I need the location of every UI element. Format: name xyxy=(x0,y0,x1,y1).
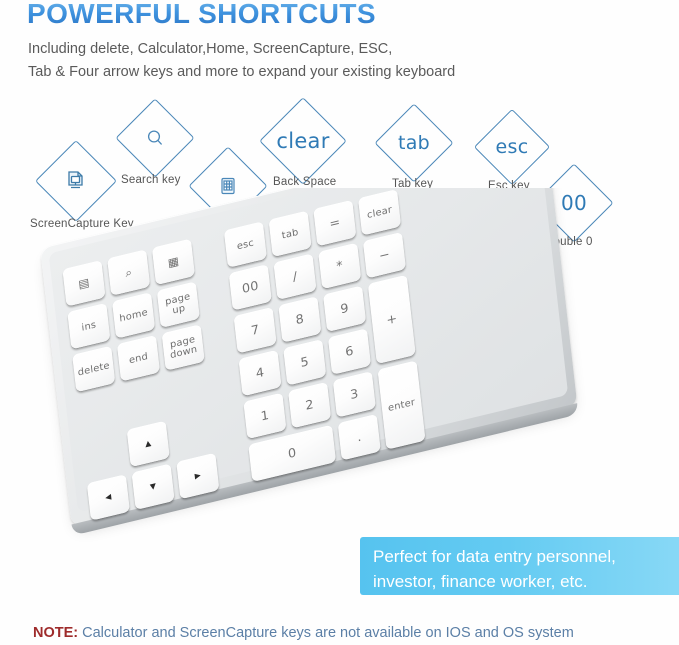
badge-search xyxy=(127,110,183,166)
badge-glyph-tab: tab xyxy=(386,115,442,171)
subtitle-line-1: Including delete, Calculator,Home, Scree… xyxy=(28,38,455,61)
arrow-left-icon: ◀ xyxy=(105,493,112,502)
callout-line-1: Perfect for data entry personnel, xyxy=(373,544,679,569)
magnifier-icon xyxy=(127,110,183,166)
badge-label-backspace: Back Space xyxy=(273,176,336,188)
keyboard-key-page-down-label: page down xyxy=(163,333,204,363)
screen-capture-icon: ▤ xyxy=(78,277,90,290)
keyboard-key-page-up-label: page up xyxy=(158,290,199,320)
callout-line-2: investor, finance worker, etc. xyxy=(373,569,679,594)
badge-glyph-text: esc xyxy=(496,136,529,158)
magnifier-icon: ⌕ xyxy=(125,267,133,279)
page-subtitle: Including delete, Calculator,Home, Scree… xyxy=(28,38,455,84)
arrow-up-icon: ▲ xyxy=(145,439,152,448)
badge-glyph-text: tab xyxy=(398,132,430,154)
note-prefix: NOTE: xyxy=(33,625,78,641)
keyboard-body: ▤ ⌕ ▦ esc tab = clear ins home page up 0… xyxy=(40,188,577,527)
badge-backspace: clear xyxy=(272,110,334,172)
product-feature-image: POWERFUL SHORTCUTS Including delete, Cal… xyxy=(0,0,679,645)
note-body: Calculator and ScreenCapture keys are no… xyxy=(78,625,574,641)
callout-banner: Perfect for data entry personnel, invest… xyxy=(360,537,679,595)
badge-esc: esc xyxy=(485,120,539,174)
calculator-icon: ▦ xyxy=(167,255,179,268)
subtitle-line-2: Tab & Four arrow keys and more to expand… xyxy=(28,61,455,84)
arrow-right-icon: ▶ xyxy=(194,472,201,481)
badge-glyph-text: clear xyxy=(276,129,329,153)
badge-glyph-backspace: clear xyxy=(272,110,334,172)
badge-glyph-esc: esc xyxy=(485,120,539,174)
arrow-down-icon: ▼ xyxy=(150,482,157,491)
badge-tab: tab xyxy=(386,115,442,171)
note-text: NOTE: Calculator and ScreenCapture keys … xyxy=(33,625,574,641)
page-title: POWERFUL SHORTCUTS xyxy=(27,0,376,30)
badge-label-search: Search key xyxy=(121,174,181,186)
